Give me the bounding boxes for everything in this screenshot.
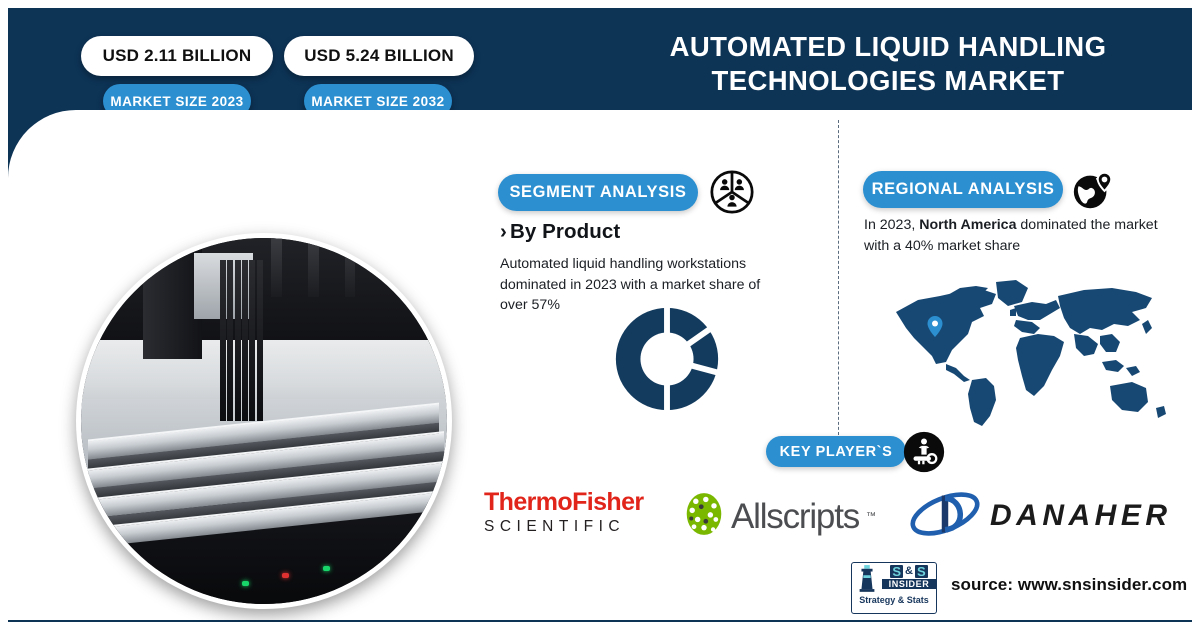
lighthouse-icon [852,563,882,593]
segment-people-chart-icon [710,170,754,214]
sns-tagline: Strategy & Stats [852,593,936,605]
segment-heading-label: By Product [510,220,620,243]
allscripts-sphere-icon [684,491,724,542]
market-size-2023-value: USD 2.11 BILLION [81,36,273,76]
source-label: source: www.snsinsider.com [951,575,1187,595]
hero-image-frame [76,233,452,609]
status-led-green-2 [323,566,330,571]
status-led-green-1 [242,581,249,586]
navy-canvas: AUTOMATED LIQUID HANDLING TECHNOLOGIES M… [8,8,1192,622]
allscripts-logo: Allscripts ™ [684,492,884,540]
automated-liquid-handling-robot-photo [81,238,447,604]
infographic-root: AUTOMATED LIQUID HANDLING TECHNOLOGIES M… [0,0,1200,630]
market-size-2032-value: USD 5.24 BILLION [284,36,474,76]
donut-chart-icon [608,300,726,418]
danaher-logo: DANAHER [908,491,1192,541]
chevron-right-icon: › [500,220,507,243]
allscripts-wordmark: Allscripts [731,499,859,534]
person-on-key-icon [903,431,945,473]
globe-pin-icon [1070,167,1116,213]
regional-text-bold: North America [919,217,1016,233]
regional-text-pre: In 2023, [864,217,919,233]
key-players-badge: KEY PLAYER`S [766,436,906,467]
sns-amp: & [905,566,913,577]
danaher-wordmark: DANAHER [990,501,1172,531]
danaher-d-icon [908,490,982,543]
thermo-fisher-subtext: SCIENTIFIC [484,515,674,538]
thermo-fisher-scientific-logo: ThermoFisher SCIENTIFIC [484,490,674,542]
sns-insider-word: INSIDER [882,579,936,589]
sns-s1: S [890,565,903,578]
segment-heading: ›By Product [500,220,620,244]
regional-analysis-badge: REGIONAL ANALYSIS [863,171,1063,208]
sns-insider-logo: S & S INSIDER Strategy & Stats [851,562,937,614]
world-map [888,276,1178,436]
page-title: AUTOMATED LIQUID HANDLING TECHNOLOGIES M… [608,30,1168,97]
section-divider [838,120,839,440]
thermo-fisher-wordmark: ThermoFisher [484,490,674,515]
regional-description: In 2023, North America dominated the mar… [864,215,1184,258]
sns-s2: S [915,565,928,578]
segment-analysis-badge: SEGMENT ANALYSIS [498,174,698,211]
allscripts-tm: ™ [866,511,876,522]
